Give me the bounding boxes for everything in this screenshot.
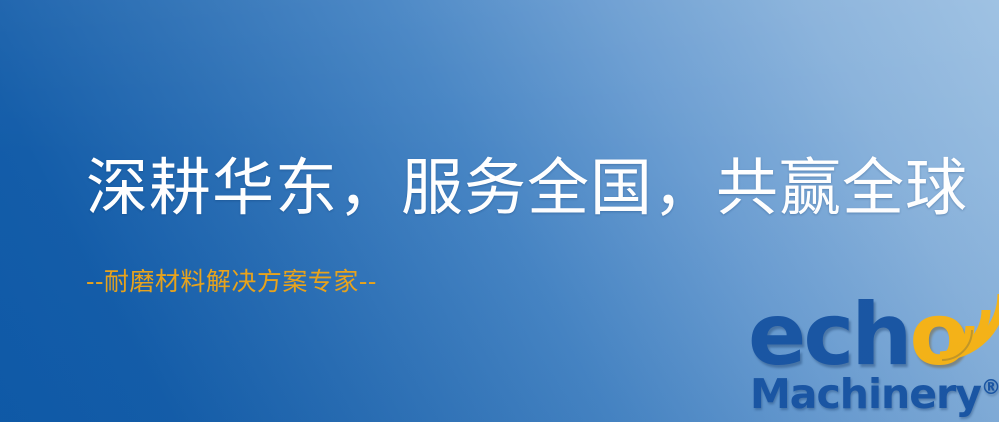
logo-subtext-machinery: Machinery — [750, 370, 981, 418]
registered-trademark-icon: ® — [981, 375, 999, 399]
promotional-banner: 深耕华东，服务全国，共赢全球 --耐磨材料解决方案专家-- echo Machi… — [0, 0, 999, 422]
banner-subtitle: --耐磨材料解决方案专家-- — [86, 266, 377, 298]
banner-headline: 深耕华东，服务全国，共赢全球 — [86, 151, 968, 225]
company-logo[interactable]: echo Machinery® — [742, 296, 999, 422]
wifi-signal-arcs-icon — [938, 292, 999, 362]
logo-subtext: Machinery® — [750, 364, 999, 417]
